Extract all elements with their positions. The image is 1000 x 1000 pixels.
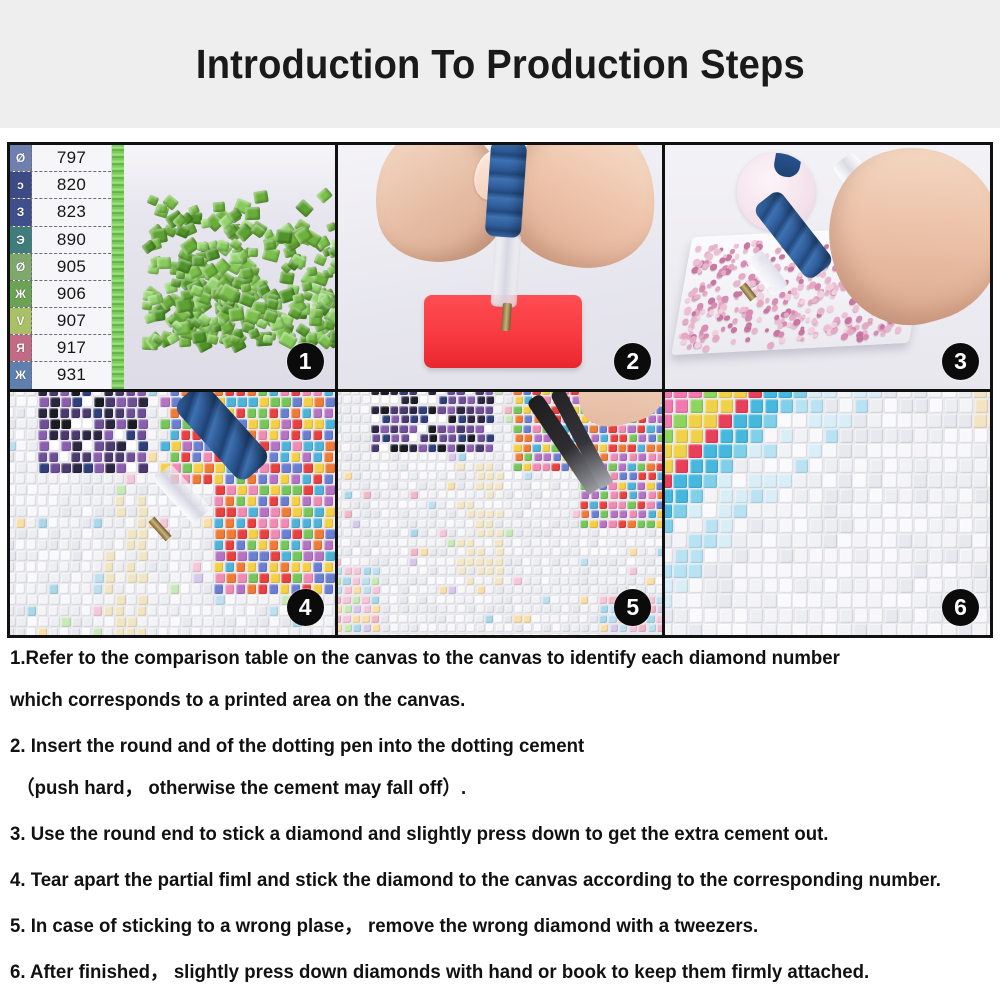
diamond-cell [93,392,103,396]
diamond-cell [116,617,126,627]
diamond-cell [237,617,247,627]
diamond-cell [485,615,493,623]
diamond-cell [126,430,136,440]
diamond-cell [928,594,942,608]
diamond-cell [372,567,380,575]
diamond-cell [428,392,436,395]
diamond-cell [372,510,380,518]
diamond-cell [619,548,627,556]
diamond-cell [943,504,957,518]
diamond-cell [138,573,148,583]
diamond-cell [960,459,974,473]
diamond-cell [420,510,428,518]
diamond-cell [690,459,704,473]
diamond-cell [838,444,852,458]
diamond-cell [39,573,49,583]
diamond-cell [504,596,512,604]
diamond-cell [589,577,597,585]
chart-row: Ø797 [10,145,111,172]
diamond-cell [401,510,409,518]
diamond-cell [945,459,959,473]
diamond-cell [943,414,957,428]
pink-diamond [694,341,702,348]
diamond-cell [237,485,247,495]
diamond-cell [447,520,455,528]
diamond-cell [352,392,360,395]
diamond-cell [656,425,662,433]
diamond-cell [342,444,350,452]
diamond-cell [49,496,59,506]
diamond-cell [338,392,341,395]
diamond-cell [72,573,82,583]
diamond-cell [338,558,341,566]
diamond-cell [456,482,464,490]
pink-diamond [868,318,874,323]
diamond-cell [943,474,957,488]
diamond-cell [610,510,618,518]
green-diamond [240,283,251,293]
diamond-cell [591,510,599,518]
diamond-cell [344,396,352,404]
diamond-cell [608,577,616,585]
diamond-cell [149,573,159,583]
diamond-cell [855,579,869,593]
diamond-cell [675,459,689,473]
chart-row: V907 [10,308,111,335]
diamond-cell [448,472,456,480]
diamond-cell [439,567,447,575]
diamond-cell [477,396,485,404]
diamond-cell [638,453,646,461]
diamond-cell [720,429,734,443]
diamond-cell [94,573,104,583]
diamond-cell [410,548,418,556]
diamond-cell [496,396,504,404]
diamond-cell [523,425,531,433]
diamond-cell [665,414,671,428]
diamond-cell [448,434,456,442]
diamond-cell [868,594,882,608]
diamond-cell [192,606,202,616]
diamond-cell [466,634,474,635]
diamond-cell [39,485,49,495]
diamond-cell [83,573,93,583]
diamond-cell [214,606,224,616]
diamond-cell [458,396,466,404]
diamond-cell [504,615,512,623]
diamond-cell [504,392,512,395]
diamond-cell [303,529,313,539]
diamond-cell [104,584,114,594]
diamond-cell [690,429,704,443]
diamond-cell [486,434,494,442]
diamond-cell [838,534,852,548]
diamond-cell [780,579,794,593]
diamond-cell [259,573,269,583]
diamond-cell [913,504,927,518]
diamond-cell [572,529,580,537]
diamond-cell [226,507,236,517]
diamond-cell [928,444,942,458]
diamond-cell [94,595,104,605]
diamond-cell [958,564,972,578]
diamond-cell [61,573,71,583]
diamond-cell [391,434,399,442]
diamond-cell [562,567,570,575]
diamond-cell [439,453,447,461]
diamond-cell [515,605,523,613]
diamond-cell [280,562,290,572]
diamond-cell [823,504,837,518]
diamond-cell [16,584,26,594]
diamond-cell [466,392,474,395]
diamond-cell [599,596,607,604]
diamond-cell [28,595,38,605]
diamond-cell [71,408,81,418]
color-symbol-swatch: Я [10,335,32,361]
diamond-cell [733,474,747,488]
diamond-cell [115,408,125,418]
diamond-cell [314,485,324,495]
diamond-cell [27,496,37,506]
diamond-cell [137,518,147,528]
diamond-cell [338,529,343,537]
diamond-cell [447,463,455,471]
diamond-cell [313,518,323,528]
diamond-canvas-5 [338,392,663,636]
diamond-cell [733,624,747,635]
diamond-cell [236,496,246,506]
diamond-cell [60,518,70,528]
diamond-cell [237,529,247,539]
diamond-cell [505,567,513,575]
diamond-cell [572,510,580,518]
diamond-cell [648,434,656,442]
diamond-cell [352,425,360,433]
diamond-cell [513,539,521,547]
dmc-number: 797 [32,148,111,168]
diamond-cell [551,615,559,623]
diamond-cell [303,551,313,561]
diamond-cell [281,551,291,561]
pen-metal-tip [501,303,512,332]
diamond-cell [913,444,927,458]
diamond-cell [551,558,559,566]
diamond-cell [291,496,301,506]
diamond-cell [71,584,81,594]
diamond-cell [629,529,637,537]
diamond-cell [688,534,702,548]
diamond-cell [127,573,137,583]
diamond-cell [437,520,445,528]
diamond-cell [763,474,777,488]
diamond-cell [720,579,734,593]
diamond-cell [72,551,82,561]
pink-diamond [745,314,753,321]
diamond-cell [193,441,203,451]
diamond-cell [883,624,897,635]
pink-diamond [757,293,765,300]
diamond-cell [637,558,645,566]
diamond-cell [338,396,343,404]
diamond-cell [551,501,559,509]
diamond-cell [10,529,16,539]
diamond-cell [637,577,645,585]
diamond-cell [148,392,158,396]
pink-diamond [714,248,722,255]
diamond-cell [748,534,762,548]
diamond-cell [532,615,540,623]
diamond-cell [705,549,719,563]
diamond-cell [524,586,532,594]
diamond-cell [656,596,662,604]
diamond-cell [27,474,37,484]
diamond-cell [302,496,312,506]
diamond-cell [314,419,324,429]
diamond-cell [915,459,929,473]
diamond-cell [16,562,26,572]
diamond-cell [572,567,580,575]
diamond-cell [338,605,343,613]
diamond-cell [657,491,662,499]
diamond-cell [720,609,734,623]
diamond-cell [204,617,214,627]
diamond-cell [401,472,409,480]
diamond-cell [705,429,719,443]
green-diamond [197,242,208,252]
diamond-cell [380,482,388,490]
diamond-cell [248,617,258,627]
diamond-cell [562,586,570,594]
diamond-cell [898,624,912,635]
diamond-cell [915,429,929,443]
diamond-cell [883,444,897,458]
diamond-cell [137,474,147,484]
diamond-cell [646,501,654,509]
diamond-cell [675,579,689,593]
diamond-cell [237,397,247,407]
diamond-cell [418,558,426,566]
diamond-cell [608,501,616,509]
diamond-cell [115,518,125,528]
pen-blue-grip [484,145,527,238]
diamond-cell [900,429,914,443]
diamond-cell [291,518,301,528]
diamond-cell [314,441,324,451]
diamond-cell [778,414,792,428]
diamond-cell [466,539,474,547]
diamond-cell [656,577,662,585]
diamond-cell [542,392,550,395]
diamond-cell [380,615,388,623]
diamond-cell [637,463,645,471]
diamond-cell [281,485,291,495]
diamond-cell [780,609,794,623]
diamond-cell [247,628,257,635]
diamond-cell [418,482,426,490]
diamond-cell [28,507,38,517]
diamond-cell [61,595,71,605]
diamond-cell [302,408,312,418]
pink-diamond [770,257,776,262]
diamond-cell [159,408,169,418]
pink-diamond [731,259,736,264]
diamond-cell [49,606,59,616]
diamond-cell [561,501,569,509]
diamond-cell [673,392,687,398]
pink-diamond [752,328,759,334]
diamond-cell [409,596,417,604]
diamond-cell [665,489,673,503]
diamond-cell [532,634,540,635]
diamond-cell [494,482,502,490]
pink-diamond [862,334,869,340]
diamond-cell [361,558,369,566]
diamond-cell [93,474,103,484]
diamond-cell [898,534,912,548]
diamond-cell [543,624,551,632]
diamond-cell [467,548,475,556]
diamond-cell [629,510,637,518]
diamond-cell [485,463,493,471]
diamond-cell [703,504,717,518]
diamond-cell [581,586,589,594]
pink-diamond [680,338,688,345]
diamond-cell [353,472,361,480]
diamond-cell [456,577,464,585]
diamond-cell [646,520,654,528]
diamond-cell [93,430,103,440]
diamond-cell [638,491,646,499]
pink-diamond [756,300,764,307]
diamond-cell [928,504,942,518]
diamond-cell [159,562,169,572]
diamond-cell [439,472,447,480]
diamond-cell [765,429,779,443]
diamond-cell [126,392,136,396]
diamond-cell [673,414,687,428]
diamond-cell [248,507,258,517]
diamond-cell [838,624,852,635]
diamond-cell [192,540,202,550]
diamond-cell [371,634,379,635]
diamond-cell [82,606,92,616]
diamond-cell [269,408,279,418]
diamond-cell [302,392,312,396]
green-diamond [329,330,334,344]
diamond-cell [409,444,417,452]
diamond-cell [657,415,662,423]
diamond-cell [391,605,399,613]
diamond-cell [270,485,280,495]
diamond-cell [581,605,589,613]
diamond-cell [303,441,313,451]
diamond-cell [496,415,504,423]
diamond-cell [665,444,671,458]
diamond-cell [475,406,483,414]
diamond-cell [553,567,561,575]
diamond-cell [808,534,822,548]
diamond-cell [870,519,884,533]
diamond-cell [657,510,662,518]
diamond-cell [513,615,521,623]
diamond-cell [314,463,324,473]
diamond-cell [361,406,369,414]
diamond-cell [496,624,504,632]
diamond-cell [27,518,37,528]
diamond-cell [16,540,26,550]
diamond-cell [618,463,626,471]
diamond-cell [515,548,523,556]
diamond-cell [958,504,972,518]
diamond-cell [570,596,578,604]
diamond-cell [750,549,764,563]
diamond-cell [437,482,445,490]
diamond-cell [372,491,380,499]
diamond-cell [171,573,181,583]
diamond-cell [338,520,341,528]
diamond-cell [543,510,551,518]
diamond-cell [447,392,455,395]
diamond-cell [82,540,92,550]
diamond-cell [72,463,82,473]
diamond-cell [733,504,747,518]
diamond-cell [515,415,523,423]
diamond-cell [361,482,369,490]
diamond-cell [618,425,626,433]
diamond-cell [825,549,839,563]
diamond-cell [159,606,169,616]
diamond-cell [399,501,407,509]
diamond-cell [439,491,447,499]
diamond-cell [825,579,839,593]
diamond-cell [870,489,884,503]
diamond-cell [665,549,673,563]
dmc-number: 931 [32,365,111,385]
diamond-cell [361,392,369,395]
step-badge-1: 1 [287,343,324,380]
diamond-cell [49,452,59,462]
diamond-cell [410,472,418,480]
diamond-cell [718,414,732,428]
diamond-cell [94,507,104,517]
diamond-cell [170,628,180,635]
diamond-cell [780,549,794,563]
diamond-cell [883,474,897,488]
diamond-cell [371,425,379,433]
diamond-cell [591,586,599,594]
diamond-cell [466,596,474,604]
diamond-cell [115,496,125,506]
diamond-cell [591,624,599,632]
diamond-cell [439,434,447,442]
diamond-cell [505,624,513,632]
diamond-cell [303,507,313,517]
diamond-cell [675,489,689,503]
diamond-cell [748,624,762,635]
diamond-cell [973,414,987,428]
diamond-cell [591,548,599,556]
diamond-cell [477,529,485,537]
diamond-cell [870,459,884,473]
diamond-cell [324,496,334,506]
diamond-cell [930,609,944,623]
diamond-cell [171,419,181,429]
diamond-cell [570,558,578,566]
diamond-cell [637,539,645,547]
diamond-cell [703,474,717,488]
diamond-cell [214,518,224,528]
